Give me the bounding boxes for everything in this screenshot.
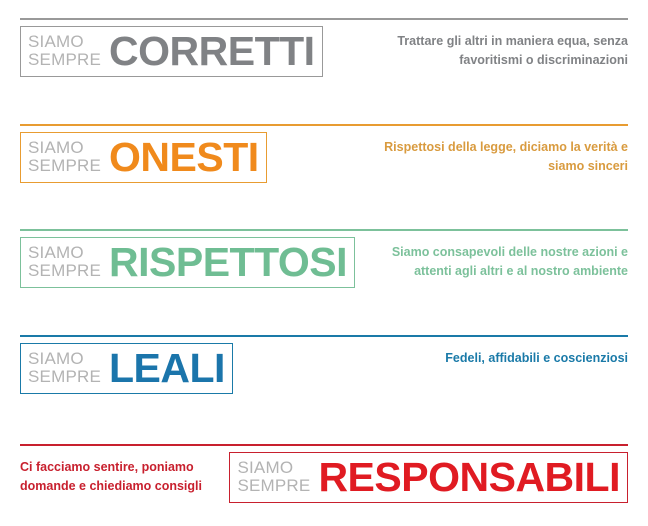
- claim-lead-line-2: SEMPRE: [28, 368, 101, 386]
- claim-box-responsabili: SIAMO SEMPRE RESPONSABILI: [229, 452, 628, 503]
- claim-lead-line-2: SEMPRE: [28, 51, 101, 69]
- claim-lead-line-2: SEMPRE: [237, 477, 310, 495]
- claim-lead-line-1: SIAMO: [28, 139, 101, 157]
- values-poster: SIAMO SEMPRE CORRETTI Trattare gli altri…: [0, 0, 648, 526]
- claim-box-rispettosi: SIAMO SEMPRE RISPETTOSI: [20, 237, 355, 288]
- value-row: SIAMO SEMPRE RISPETTOSI Siamo consapevol…: [20, 237, 628, 288]
- value-row: SIAMO SEMPRE ONESTI Rispettosi della leg…: [20, 132, 628, 183]
- claim-lead: SIAMO SEMPRE: [28, 350, 109, 386]
- claim-lead: SIAMO SEMPRE: [28, 139, 109, 175]
- divider-rule: [20, 18, 628, 20]
- value-row: SIAMO SEMPRE RESPONSABILI Ci facciamo se…: [20, 452, 628, 503]
- value-description: Ci facciamo sentire, poniamo domande e c…: [20, 452, 229, 496]
- claim-lead: SIAMO SEMPRE: [28, 33, 109, 69]
- claim-word: CORRETTI: [109, 30, 315, 72]
- claim-lead-line-1: SIAMO: [28, 244, 101, 262]
- divider-rule: [20, 444, 628, 446]
- claim-word: ONESTI: [109, 136, 259, 178]
- claim-lead-line-1: SIAMO: [28, 33, 101, 51]
- claim-box-onesti: SIAMO SEMPRE ONESTI: [20, 132, 267, 183]
- claim-lead-line-2: SEMPRE: [28, 262, 101, 280]
- divider-rule: [20, 229, 628, 231]
- claim-box-corretti: SIAMO SEMPRE CORRETTI: [20, 26, 323, 77]
- value-row: SIAMO SEMPRE LEALI Fedeli, affidabili e …: [20, 343, 628, 394]
- value-description: Fedeli, affidabili e coscienziosi: [445, 343, 628, 368]
- claim-lead: SIAMO SEMPRE: [28, 244, 109, 280]
- claim-lead-line-1: SIAMO: [28, 350, 101, 368]
- value-row: SIAMO SEMPRE CORRETTI Trattare gli altri…: [20, 26, 628, 77]
- value-description: Trattare gli altri in maniera equa, senz…: [378, 26, 628, 70]
- claim-lead-line-2: SEMPRE: [28, 157, 101, 175]
- claim-word: LEALI: [109, 347, 225, 389]
- divider-rule: [20, 124, 628, 126]
- claim-word: RESPONSABILI: [318, 456, 620, 498]
- claim-box-leali: SIAMO SEMPRE LEALI: [20, 343, 233, 394]
- value-description: Rispettosi della legge, diciamo la verit…: [378, 132, 628, 176]
- value-description: Siamo consapevoli delle nostre azioni e …: [378, 237, 628, 281]
- claim-lead-line-1: SIAMO: [237, 459, 310, 477]
- claim-word: RISPETTOSI: [109, 241, 347, 283]
- claim-lead: SIAMO SEMPRE: [237, 459, 318, 495]
- divider-rule: [20, 335, 628, 337]
